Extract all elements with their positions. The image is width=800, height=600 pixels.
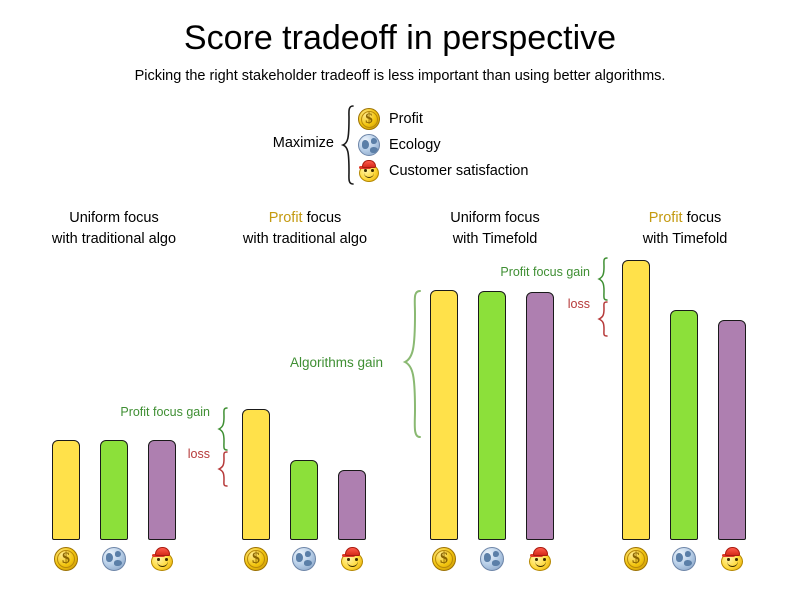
axis-icon-ecology bbox=[102, 547, 126, 571]
group-header-line2: with traditional algo bbox=[14, 229, 214, 250]
group-header-line1: Profit focus bbox=[585, 208, 785, 229]
brace-loss-icon bbox=[596, 300, 610, 338]
bar-g2-ecology bbox=[290, 460, 318, 540]
axis-icon-customer-satisfaction bbox=[528, 547, 552, 571]
chart-subtitle: Picking the right stakeholder tradeoff i… bbox=[0, 66, 800, 86]
legend-item-label: Profit bbox=[389, 110, 423, 128]
legend: Maximize $ Profit Ecology Customer satis… bbox=[258, 104, 558, 186]
globe-icon bbox=[292, 547, 316, 571]
bar-g1-ecology bbox=[100, 440, 128, 540]
globe-icon bbox=[672, 547, 696, 571]
axis-icon-ecology bbox=[292, 547, 316, 571]
axis-icon-customer-satisfaction bbox=[150, 547, 174, 571]
coin-icon: $ bbox=[624, 547, 648, 571]
bar-g4-customer-satisfaction bbox=[718, 320, 746, 540]
group-header-profit-timefold: Profit focus with Timefold bbox=[585, 208, 785, 250]
globe-icon bbox=[102, 547, 126, 571]
legend-item-label: Ecology bbox=[389, 136, 441, 154]
smiley-icon bbox=[340, 547, 364, 571]
group-header-line2: with traditional algo bbox=[205, 229, 405, 250]
legend-item-ecology: Ecology bbox=[358, 132, 441, 158]
bar-g3-customer-satisfaction bbox=[526, 292, 554, 540]
legend-brace-icon bbox=[340, 104, 356, 186]
bar-g2-customer-satisfaction bbox=[338, 470, 366, 540]
globe-icon bbox=[358, 134, 380, 156]
bar-g1-profit bbox=[52, 440, 80, 540]
group-header-uniform-timefold: Uniform focus with Timefold bbox=[395, 208, 595, 250]
legend-item-customer-satisfaction: Customer satisfaction bbox=[358, 158, 528, 184]
brace-loss-icon bbox=[216, 450, 230, 488]
axis-icon-profit: $ bbox=[244, 547, 268, 571]
legend-item-label: Customer satisfaction bbox=[389, 162, 528, 180]
bar-g3-profit bbox=[430, 290, 458, 540]
annotation-algorithms-gain: Algorithms gain bbox=[258, 355, 383, 370]
brace-algorithms-gain-icon bbox=[402, 288, 424, 443]
group-header-line1: Profit focus bbox=[205, 208, 405, 229]
group-header-uniform-traditional: Uniform focus with traditional algo bbox=[14, 208, 214, 250]
axis-icon-ecology bbox=[480, 547, 504, 571]
smiley-icon bbox=[720, 547, 744, 571]
axis-icon-customer-satisfaction bbox=[340, 547, 364, 571]
axis-icon-ecology bbox=[672, 547, 696, 571]
axis-icon-profit: $ bbox=[432, 547, 456, 571]
axis-icon-customer-satisfaction bbox=[720, 547, 744, 571]
annotation-profit-focus-gain: Profit focus gain bbox=[480, 265, 590, 280]
legend-item-profit: $ Profit bbox=[358, 106, 423, 132]
page-title: Score tradeoff in perspective bbox=[0, 18, 800, 58]
brace-profit-focus-gain-icon bbox=[216, 406, 230, 452]
coin-icon: $ bbox=[54, 547, 78, 571]
bar-g4-ecology bbox=[670, 310, 698, 540]
group-header-line1: Uniform focus bbox=[14, 208, 214, 229]
axis-icon-profit: $ bbox=[624, 547, 648, 571]
coin-icon: $ bbox=[432, 547, 456, 571]
bar-g2-profit bbox=[242, 409, 270, 540]
group-header-line2: with Timefold bbox=[585, 229, 785, 250]
globe-icon bbox=[480, 547, 504, 571]
brace-profit-focus-gain-icon bbox=[596, 256, 610, 302]
smiley-icon bbox=[358, 160, 380, 182]
chart-canvas: Score tradeoff in perspective Picking th… bbox=[0, 0, 800, 600]
bar-g4-profit bbox=[622, 260, 650, 540]
smiley-icon bbox=[528, 547, 552, 571]
bar-g3-ecology bbox=[478, 291, 506, 540]
group-header-line1: Uniform focus bbox=[395, 208, 595, 229]
annotation-loss: loss bbox=[140, 447, 210, 462]
legend-title: Maximize bbox=[258, 134, 334, 152]
group-header-profit-traditional: Profit focus with traditional algo bbox=[205, 208, 405, 250]
group-header-line2: with Timefold bbox=[395, 229, 595, 250]
annotation-loss: loss bbox=[520, 297, 590, 312]
smiley-icon bbox=[150, 547, 174, 571]
axis-icon-profit: $ bbox=[54, 547, 78, 571]
coin-icon: $ bbox=[358, 108, 380, 130]
annotation-profit-focus-gain: Profit focus gain bbox=[100, 405, 210, 420]
coin-icon: $ bbox=[244, 547, 268, 571]
